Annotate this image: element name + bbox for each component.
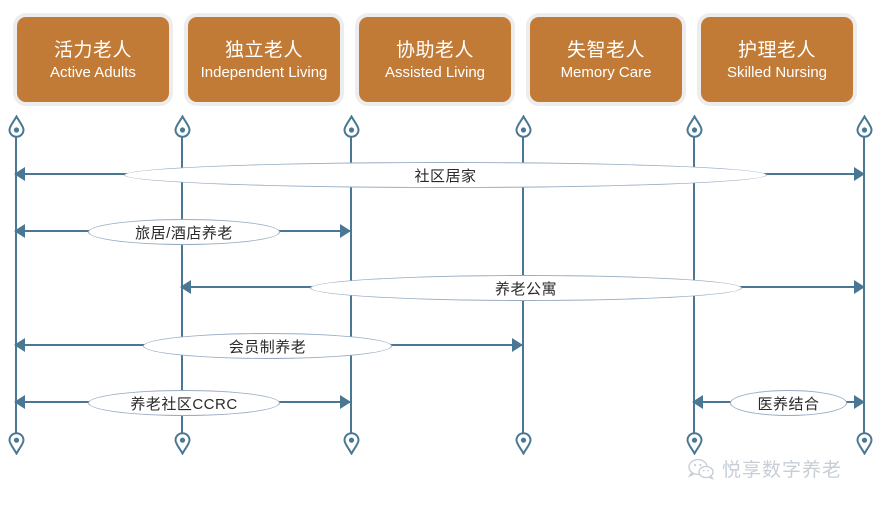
service-ellipse[interactable]: 医养结合 (730, 390, 847, 416)
category-card-3[interactable]: 协助老人Assisted Living (359, 17, 511, 102)
category-label-en: Skilled Nursing (727, 63, 827, 82)
pin-marker-bottom-4 (514, 432, 533, 455)
pin-marker-top-2 (173, 115, 192, 138)
watermark: 悦享数字养老 (688, 455, 842, 482)
category-label-zh: 失智老人 (567, 38, 645, 63)
pin-marker-top-6 (855, 115, 873, 138)
pin-marker-bottom-5 (685, 432, 704, 455)
arrow-head-right-icon (512, 338, 523, 352)
pin-marker-top-3 (342, 115, 361, 138)
service-membership-senior-living[interactable]: 会员制养老 (15, 333, 522, 357)
service-senior-apartment[interactable]: 养老公寓 (181, 275, 864, 299)
arrow-head-left-icon (692, 395, 703, 409)
watermark-text: 悦享数字养老 (722, 455, 842, 482)
pin-marker-top-1 (7, 115, 26, 138)
pin-marker-bottom-6 (855, 432, 873, 455)
diagram-canvas: 活力老人Active Adults独立老人Independent Living协… (0, 0, 873, 506)
category-card-4[interactable]: 失智老人Memory Care (530, 17, 682, 102)
service-ccrc-community[interactable]: 养老社区CCRC (15, 390, 350, 414)
category-label-en: Assisted Living (385, 63, 485, 82)
pin-marker-bottom-3 (342, 432, 361, 455)
service-travel-hotel-senior-living[interactable]: 旅居/酒店养老 (15, 219, 350, 243)
category-label-zh: 独立老人 (225, 38, 303, 63)
category-label-zh: 护理老人 (738, 38, 816, 63)
pin-marker-bottom-1 (7, 432, 26, 455)
category-label-en: Memory Care (561, 63, 652, 82)
category-label-zh: 协助老人 (396, 38, 474, 63)
arrow-head-left-icon (14, 395, 25, 409)
arrow-head-right-icon (854, 167, 865, 181)
wechat-icon (688, 458, 714, 480)
service-label: 会员制养老 (229, 336, 307, 357)
arrow-head-right-icon (340, 395, 351, 409)
arrow-head-left-icon (14, 224, 25, 238)
category-card-2[interactable]: 独立老人Independent Living (188, 17, 340, 102)
pin-marker-top-4 (514, 115, 533, 138)
arrow-head-left-icon (14, 338, 25, 352)
service-label: 旅居/酒店养老 (135, 222, 233, 243)
pin-marker-bottom-2 (173, 432, 192, 455)
pin-marker-top-5 (685, 115, 704, 138)
service-ellipse[interactable]: 旅居/酒店养老 (88, 219, 280, 245)
arrow-head-left-icon (180, 280, 191, 294)
arrow-head-right-icon (340, 224, 351, 238)
arrow-head-right-icon (854, 395, 865, 409)
category-card-1[interactable]: 活力老人Active Adults (17, 17, 169, 102)
service-medical-care-integration[interactable]: 医养结合 (693, 390, 864, 414)
category-label-en: Independent Living (201, 63, 328, 82)
arrow-head-left-icon (14, 167, 25, 181)
service-label: 医养结合 (757, 393, 819, 414)
service-community-home-care[interactable]: 社区居家 (15, 162, 864, 186)
service-ellipse[interactable]: 会员制养老 (143, 333, 392, 359)
arrow-head-right-icon (854, 280, 865, 294)
category-label-zh: 活力老人 (54, 38, 132, 63)
service-ellipse[interactable]: 养老公寓 (310, 275, 742, 301)
service-label: 养老社区CCRC (130, 393, 237, 414)
service-ellipse[interactable]: 社区居家 (124, 162, 767, 188)
service-ellipse[interactable]: 养老社区CCRC (88, 390, 280, 416)
service-label: 社区居家 (414, 165, 476, 186)
service-label: 养老公寓 (495, 278, 557, 299)
category-card-5[interactable]: 护理老人Skilled Nursing (701, 17, 853, 102)
category-label-en: Active Adults (50, 63, 136, 82)
